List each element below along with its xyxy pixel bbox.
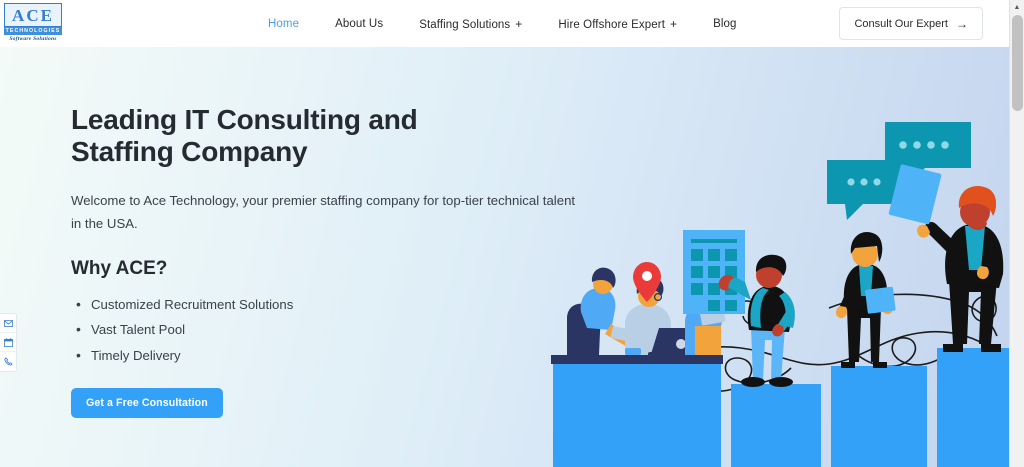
figure-woman — [836, 232, 896, 368]
nav-item-home[interactable]: Home — [250, 18, 317, 30]
logo-box: ACE — [4, 3, 62, 27]
site-logo[interactable]: ACE TECHNOLOGIES Software Solutions — [4, 3, 66, 42]
nav-item-about-us[interactable]: About Us — [317, 18, 401, 30]
benefits-list: Customized Recruitment Solutions Vast Ta… — [71, 292, 591, 367]
site-header: ACE TECHNOLOGIES Software Solutions Home… — [0, 0, 1009, 47]
contact-rail — [0, 313, 17, 372]
scrollbar-thumb[interactable] — [1012, 15, 1023, 111]
nav-item-blog[interactable]: Blog — [695, 18, 754, 30]
calendar-icon[interactable] — [0, 333, 16, 352]
arrow-right-icon: → — [956, 17, 968, 31]
main-navigation: Home About Us Staffing Solutions+ Hire O… — [250, 0, 755, 47]
consult-button-label: Consult Our Expert — [854, 18, 948, 30]
bar-4 — [937, 348, 1009, 467]
logo-name: ACE — [12, 7, 54, 24]
plus-icon: + — [515, 17, 522, 31]
hero-illustration — [529, 112, 1009, 467]
logo-tagline: TECHNOLOGIES — [4, 27, 62, 35]
bar-3 — [831, 366, 927, 467]
nav-label-about-us: About Us — [335, 18, 383, 30]
consult-our-expert-button[interactable]: Consult Our Expert → — [839, 7, 983, 40]
nav-label-home: Home — [268, 18, 299, 30]
hero-section: Leading IT Consulting and Staffing Compa… — [0, 47, 1009, 467]
page-title: Leading IT Consulting and Staffing Compa… — [71, 104, 511, 169]
logo-subtitle: Software Solutions — [4, 36, 62, 42]
nav-item-staffing-solutions[interactable]: Staffing Solutions+ — [401, 17, 540, 31]
phone-icon[interactable] — [0, 352, 16, 371]
list-item: Vast Talent Pool — [71, 317, 591, 342]
nav-label-hire-offshore-expert: Hire Offshore Expert — [558, 19, 665, 31]
email-icon[interactable] — [0, 314, 16, 333]
planning-board — [683, 230, 745, 314]
scroll-up-arrow[interactable]: ▲ — [1010, 0, 1024, 15]
hero-copy: Leading IT Consulting and Staffing Compa… — [71, 104, 591, 418]
get-free-consultation-button[interactable]: Get a Free Consultation — [71, 388, 223, 418]
plus-icon: + — [670, 17, 677, 31]
list-item: Customized Recruitment Solutions — [71, 292, 591, 317]
list-item: Timely Delivery — [71, 343, 591, 368]
scrollbar[interactable]: ▲ — [1009, 0, 1024, 467]
bar-2 — [731, 384, 821, 467]
hero-subheading: Why ACE? — [71, 258, 591, 280]
hero-lead-paragraph: Welcome to Ace Technology, your premier … — [71, 190, 576, 235]
nav-item-hire-offshore-expert[interactable]: Hire Offshore Expert+ — [540, 17, 695, 31]
nav-label-blog: Blog — [713, 18, 736, 30]
nav-label-staffing-solutions: Staffing Solutions — [419, 19, 510, 31]
page-root: ACE TECHNOLOGIES Software Solutions Home… — [0, 0, 1009, 467]
